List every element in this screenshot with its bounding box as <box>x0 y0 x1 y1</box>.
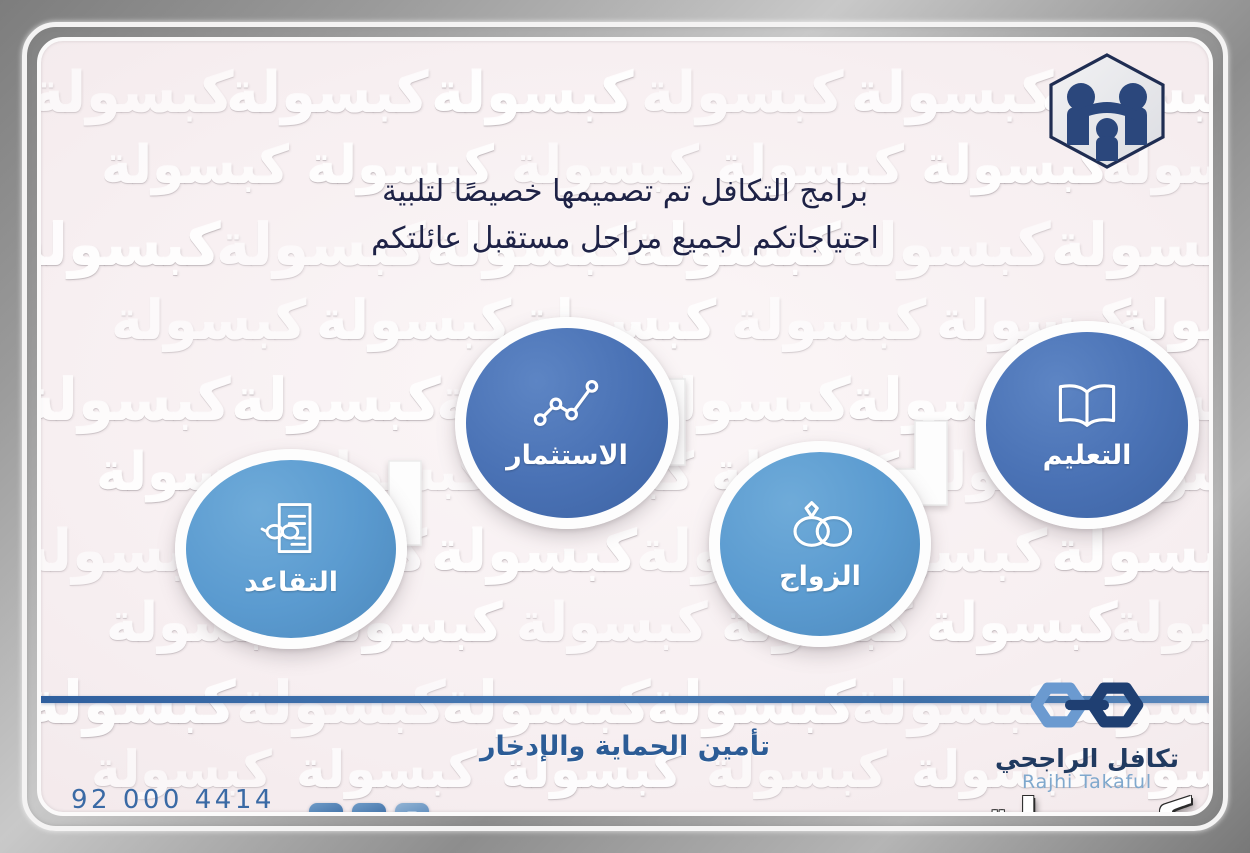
open-book-icon <box>1054 380 1120 434</box>
program-flow-diagram: التعليم الزواج <box>41 301 1213 671</box>
hexagon-chain-link-mark <box>987 671 1187 743</box>
flow-node-label: الزواج <box>779 561 861 592</box>
watermark-tile: كبسولة <box>41 669 236 737</box>
watermark-tile: كبسولة <box>431 61 634 126</box>
watermark-tile: كبسولة <box>851 61 1054 126</box>
watermark-tile: كبسولة <box>441 669 651 737</box>
watermark-tile: كبسولة <box>646 669 856 737</box>
document-glasses-icon <box>259 501 323 561</box>
foreground-watermark: كبسولة <box>981 786 1191 816</box>
twitter-bird-icon[interactable] <box>309 803 343 816</box>
poster-inner-frame: كبسولةكبسولةكبسولةكبسولةكبسولةكبسولةكبسو… <box>37 37 1213 816</box>
flow-node-label: الاستثمار <box>506 440 628 471</box>
flow-node-education[interactable]: التعليم <box>975 321 1199 529</box>
watermark-tile: كبسولة <box>236 669 446 737</box>
flow-node-label: التقاعد <box>244 567 338 598</box>
flow-node-investment[interactable]: الاستثمار <box>455 317 679 529</box>
wedding-rings-icon <box>783 497 857 555</box>
instagram-camera-icon[interactable] <box>395 803 429 816</box>
watermark-tile: كبسولة <box>226 61 429 126</box>
contact-block: 92 000 4414 alrajhitakaful.com <box>71 786 289 816</box>
flow-node-retirement[interactable]: التقاعد <box>175 449 407 649</box>
headline-line-2: احتياجاتكم لجميع مراحل مستقبل عائلتكم <box>161 216 1089 263</box>
family-shelter-hexagon-logo <box>1033 49 1181 171</box>
brand-name-arabic: تكافل الراجحي <box>987 744 1187 773</box>
social-links <box>309 803 429 816</box>
phone-number[interactable]: 92 000 4414 <box>71 786 289 815</box>
watermark-tile: كبسولة <box>641 61 844 126</box>
flow-node-label: التعليم <box>1043 440 1132 471</box>
flow-node-marriage[interactable]: الزواج <box>709 441 931 647</box>
watermark-tile: كبسولة <box>41 61 234 126</box>
headline-line-1: برامج التكافل تم تصميمها خصيصًا لتلبية <box>161 169 1089 216</box>
line-chart-growth-icon <box>531 376 603 434</box>
brand-logo: تكافل الراجحي Rajhi Takaful <box>987 671 1187 793</box>
page-title: برامج التكافل تم تصميمها خصيصًا لتلبية ا… <box>41 169 1209 262</box>
facebook-f-icon[interactable] <box>352 803 386 816</box>
